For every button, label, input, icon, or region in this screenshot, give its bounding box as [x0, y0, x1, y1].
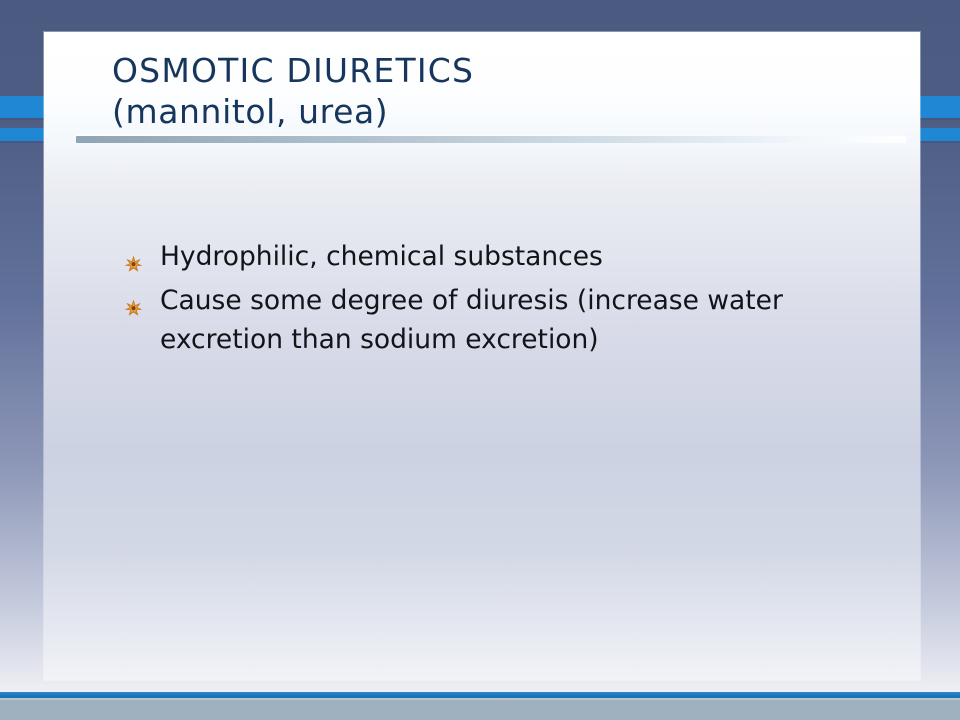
panel-top-highlight [44, 32, 920, 35]
list-item-label: Cause some degree of diuresis (increase … [160, 285, 783, 355]
slide-title-line-2: (mannitol, urea) [112, 91, 902, 132]
bottom-footer-band [0, 698, 960, 720]
slide-title-line-1: OSMOTIC DIURETICS [112, 50, 902, 91]
bullet-list: Hydrophilic, chemical substances Cause s… [110, 237, 910, 364]
list-item-label: Hydrophilic, chemical substances [160, 241, 603, 272]
star-burst-bullet-icon [124, 246, 143, 265]
content-panel: OSMOTIC DIURETICS (mannitol, urea) Hydro [44, 32, 920, 680]
bottom-footer-band-highlight [0, 698, 960, 700]
slide: OSMOTIC DIURETICS (mannitol, urea) Hydro [0, 0, 960, 720]
star-burst-bullet-icon [124, 290, 143, 309]
title-underline-rule [76, 136, 906, 143]
list-item: Cause some degree of diuresis (increase … [110, 281, 910, 359]
slide-title: OSMOTIC DIURETICS (mannitol, urea) [112, 50, 902, 132]
list-item: Hydrophilic, chemical substances [110, 237, 910, 276]
